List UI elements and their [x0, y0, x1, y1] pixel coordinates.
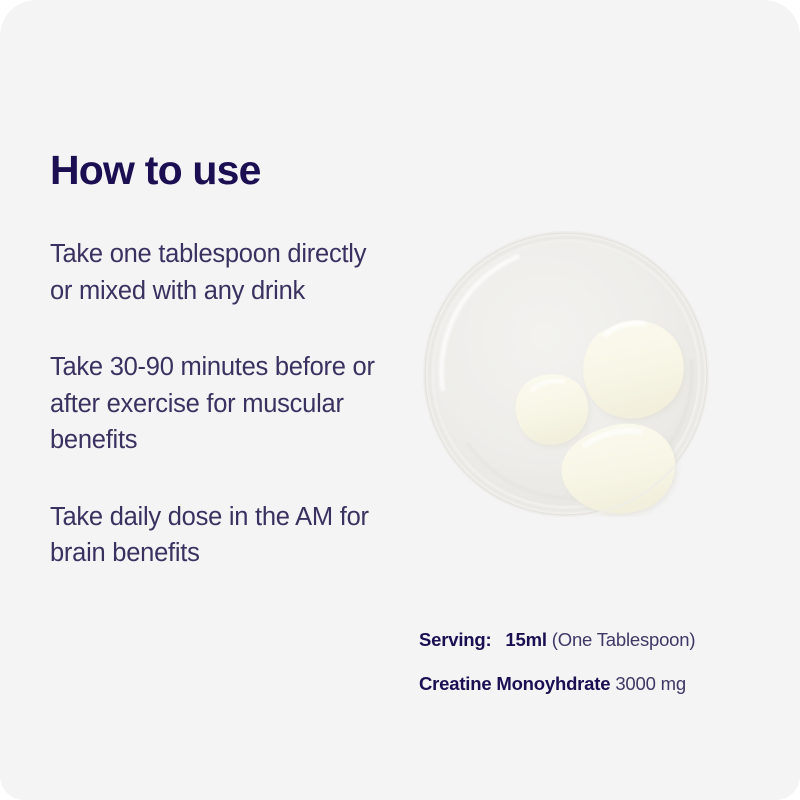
- usage-steps-list: Take one tablespoon directly or mixed wi…: [50, 236, 380, 571]
- serving-label: Serving:: [419, 629, 491, 650]
- product-specs: Serving:15ml(One Tablespoon) Creatine Mo…: [419, 628, 779, 696]
- how-to-use-card: How to use Take one tablespoon directly …: [0, 0, 800, 800]
- blob-top-right-body: [583, 321, 684, 419]
- usage-step-2: Take 30-90 minutes before or after exerc…: [50, 349, 380, 458]
- ingredient-amount: 3000 mg: [615, 673, 686, 694]
- ingredient-label: Creatine Monoyhdrate: [419, 673, 610, 694]
- page-title: How to use: [50, 148, 380, 192]
- petri-dish-photo: [423, 231, 709, 517]
- spec-ingredient-row: Creatine Monoyhdrate3000 mg: [419, 672, 779, 696]
- usage-step-3: Take daily dose in the AM for brain bene…: [50, 499, 380, 572]
- spec-serving-row: Serving:15ml(One Tablespoon): [419, 628, 779, 652]
- petri-dish-illustration: [423, 231, 709, 517]
- copy-column: How to use Take one tablespoon directly …: [50, 148, 380, 571]
- product-photo: [423, 231, 709, 575]
- serving-amount: 15ml: [505, 629, 546, 650]
- blob-top-right: [583, 321, 686, 422]
- serving-note: (One Tablespoon): [552, 629, 696, 650]
- usage-step-1: Take one tablespoon directly or mixed wi…: [50, 236, 380, 309]
